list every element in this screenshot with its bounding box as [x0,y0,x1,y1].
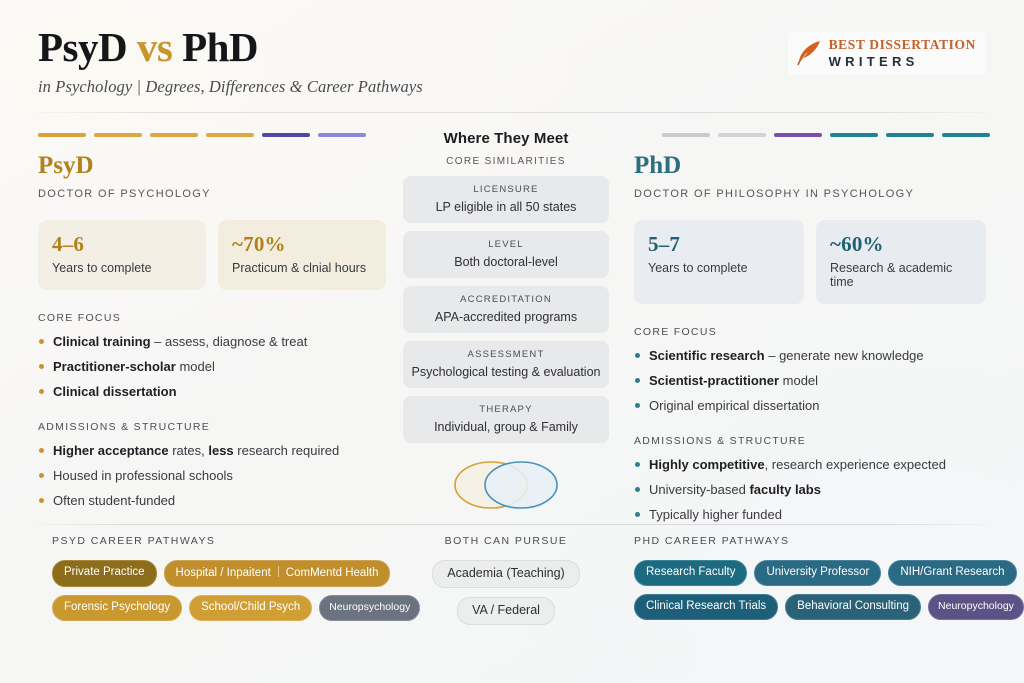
bullet-item: University-based faculty labs [634,482,986,497]
pathway-pill[interactable]: University Professor [754,560,881,586]
logo-line-2: WRITERS [829,55,919,68]
pathway-pill[interactable]: VA / Federal [457,597,555,625]
pathway-pill[interactable]: School/Child Psych [189,595,312,621]
similarity-card: ACCREDITATIONAPA-accredited programs [403,286,609,333]
similarity-key: THERAPY [409,404,603,415]
segment-bar-1 [662,133,710,137]
title-phd: PhD [182,24,258,70]
pathways-divider [38,524,986,525]
header: PsyD vs PhD in Psychology | Degrees, Dif… [38,24,986,106]
similarity-value: LP eligible in all 50 states [409,200,603,214]
pathway-pill-row: Academia (Teaching) [432,560,579,588]
bullet-item: Clinical training – assess, diagnose & t… [38,334,386,349]
where-they-meet-title: Where They Meet [403,130,609,147]
bullet-item: Original empirical dissertation [634,398,986,413]
psyd-pathways: PSYD CAREER PATHWAYS Private PracticeHos… [52,535,402,621]
bullet-item: Practitioner-scholar model [38,359,386,374]
psyd-degree-name: PsyD [38,152,386,179]
stat-label: Research & academic time [830,261,972,289]
stat-value: 4–6 [52,233,192,255]
segment-bar-3 [774,133,822,137]
phd-pathways-heading: PHD CAREER PATHWAYS [634,535,986,547]
segment-bar-4 [830,133,878,137]
bullet-item: Clinical dissertation [38,384,386,399]
bullet-item: Scientist-practitioner model [634,373,986,388]
segment-bar-4 [206,133,254,137]
segment-bar-2 [94,133,142,137]
shared-pathways-heading: BOTH CAN PURSUE [403,535,609,547]
segment-bar-5 [886,133,934,137]
stat-label: Years to complete [648,261,790,275]
psyd-pathways-heading: PSYD CAREER PATHWAYS [52,535,402,547]
similarity-value: Psychological testing & evaluation [409,365,603,379]
pathway-pill[interactable]: NIH/Grant Research [888,560,1016,586]
stat-card: ~60% Research & academic time [816,220,986,304]
shared-pathway-pills: Academia (Teaching)VA / Federal [403,560,609,625]
phd-pathways: PHD CAREER PATHWAYS Research FacultyUniv… [634,535,986,620]
similarity-key: LEVEL [409,239,603,250]
segment-bar-6 [942,133,990,137]
similarity-card: ASSESSMENTPsychological testing & evalua… [403,341,609,388]
similarity-value: Both doctoral-level [409,255,603,269]
similarity-card: LICENSURELP eligible in all 50 states [403,176,609,223]
page-subtitle: in Psychology | Degrees, Differences & C… [38,77,986,97]
similarity-value: APA-accredited programs [409,310,603,324]
shared-column: Where They Meet CORE SIMILARITIES LICENS… [403,130,609,513]
segment-bar-6 [318,133,366,137]
stat-value: 5–7 [648,233,790,255]
segment-bar-5 [262,133,310,137]
bullet-item: Highly competitive, research experience … [634,457,986,472]
pathway-pill-row: Research FacultyUniversity ProfessorNIH/… [634,560,986,586]
pill-divider [278,566,279,577]
title-vs: vs [137,24,172,70]
bullet-item: Scientific research – generate new knowl… [634,348,986,363]
pathway-pill[interactable]: Hospital / InpaitentComMentd Health [164,560,391,587]
infographic-page: PsyD vs PhD in Psychology | Degrees, Dif… [0,0,1024,683]
stat-label: Years to complete [52,261,192,275]
bullet-item: Often student-funded [38,493,386,508]
header-divider [38,112,986,113]
psyd-admissions-heading: ADMISSIONS & STRUCTURE [38,421,386,433]
similarities-list: LICENSURELP eligible in all 50 statesLEV… [403,176,609,443]
logo-text: BEST DISSERTATION WRITERS [829,38,976,68]
phd-pathway-pills: Research FacultyUniversity ProfessorNIH/… [634,560,986,620]
similarity-card: LEVELBoth doctoral-level [403,231,609,278]
similarity-key: LICENSURE [409,184,603,195]
stat-value: ~70% [232,233,372,255]
stat-card: 5–7 Years to complete [634,220,804,304]
phd-admissions-heading: ADMISSIONS & STRUCTURE [634,435,986,447]
phd-degree-name: PhD [634,152,986,179]
pathway-pill-row: Clinical Research TrialsBehavioral Consu… [634,594,986,620]
pathway-pill[interactable]: Forensic Psychology [52,595,182,621]
similarity-value: Individual, group & Family [409,420,603,434]
phd-core-focus-heading: CORE FOCUS [634,326,986,338]
bullet-item: Typically higher funded [634,507,986,522]
psyd-stat-cards: 4–6 Years to complete ~70% Practicum & c… [38,220,386,290]
psyd-core-focus-heading: CORE FOCUS [38,312,386,324]
bullet-item: Housed in professional schools [38,468,386,483]
phd-column: PhD DOCTOR OF PHILOSOPHY IN PSYCHOLOGY 5… [634,152,986,532]
phd-stat-cards: 5–7 Years to complete ~60% Research & ac… [634,220,986,304]
similarity-key: ACCREDITATION [409,294,603,305]
psyd-column: PsyD DOCTOR OF PSYCHOLOGY 4–6 Years to c… [38,152,386,518]
psyd-pathway-pills: Private PracticeHospital / InpaitentComM… [52,560,402,621]
pathway-pill-row: Forensic PsychologySchool/Child PsychNeu… [52,595,402,621]
pathway-pill[interactable]: Academia (Teaching) [432,560,579,588]
brand-logo[interactable]: BEST DISSERTATION WRITERS [788,32,986,75]
psyd-admissions-list: Higher acceptance rates, less research r… [38,443,386,508]
pathway-pill[interactable]: Research Faculty [634,560,747,586]
stat-value: ~60% [830,233,972,255]
segment-bar-2 [718,133,766,137]
segment-bar-1 [38,133,86,137]
stat-card: 4–6 Years to complete [38,220,206,290]
stat-card: ~70% Practicum & clnial hours [218,220,386,290]
pathway-pill-row: Private PracticeHospital / InpaitentComM… [52,560,402,587]
psyd-core-focus-list: Clinical training – assess, diagnose & t… [38,334,386,399]
core-similarities-heading: CORE SIMILARITIES [403,156,609,167]
pathway-pill[interactable]: Clinical Research Trials [634,594,778,620]
pathway-pill-label-a: Hospital / Inpaitent [176,567,271,579]
logo-line-1: BEST DISSERTATION [829,38,976,52]
stat-label: Practicum & clnial hours [232,261,372,275]
bullet-item: Higher acceptance rates, less research r… [38,443,386,458]
segment-bars-left [38,133,366,137]
pathway-pill[interactable]: Private Practice [52,560,157,587]
similarity-key: ASSESSMENT [409,349,603,360]
phd-degree-subtitle: DOCTOR OF PHILOSOPHY IN PSYCHOLOGY [634,188,986,200]
venn-diagram-icon [444,457,568,513]
quill-icon [796,39,822,67]
pathway-pill[interactable]: Behavioral Consulting [785,594,921,620]
phd-admissions-list: Highly competitive, research experience … [634,457,986,522]
psyd-degree-subtitle: DOCTOR OF PSYCHOLOGY [38,188,386,200]
pathway-pill[interactable]: Neuropychology [928,594,1024,620]
segment-bars-right [662,133,990,137]
pathway-pill-row: VA / Federal [457,597,555,625]
title-psyd: PsyD [38,24,127,70]
pathway-pill-label-b: ComMentd Health [286,567,379,579]
phd-core-focus-list: Scientific research – generate new knowl… [634,348,986,413]
segment-bar-3 [150,133,198,137]
shared-pathways: BOTH CAN PURSUE Academia (Teaching)VA / … [403,535,609,625]
similarity-card: THERAPYIndividual, group & Family [403,396,609,443]
